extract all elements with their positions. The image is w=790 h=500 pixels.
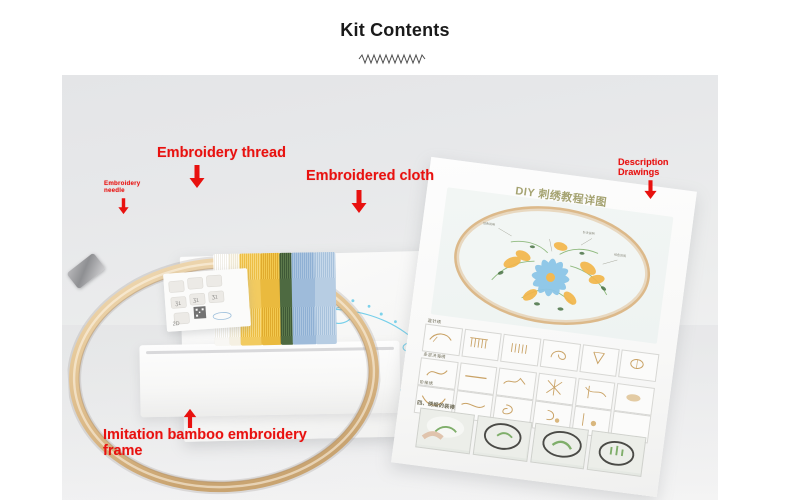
needle-packet-graphic: Ʒ1Ʒ1Ʒ1 2D [163,268,251,332]
instruction-photo [415,408,475,455]
label-embroidery-needle: Embroidery needle [104,181,140,195]
svg-text:2D: 2D [172,321,179,327]
down-arrow-icon [644,180,657,200]
stitch-diagram-cell [461,329,502,362]
svg-text:Ʒ1: Ʒ1 [212,294,218,300]
page-title: Kit Contents [0,20,790,41]
instruction-photo [472,415,532,462]
stitch-diagram-cell [618,349,659,382]
down-arrow-icon [189,165,205,189]
svg-text:Ʒ1: Ʒ1 [193,298,199,304]
description-drawings-sheet: DIY 刺绣教程详图 [391,157,697,497]
label-embroidery-thread: Embroidery thread [157,145,286,161]
instruction-photo [587,430,647,477]
thread-skein [314,252,337,344]
stitch-diagram-cell [500,334,541,367]
up-arrow-icon [183,408,197,428]
down-arrow-icon [351,190,367,214]
instruction-photo [530,423,590,470]
down-arrow-icon [118,198,129,215]
label-description-drawings: Description Drawings [618,157,669,178]
embroidery-needle-packet: Ʒ1Ʒ1Ʒ1 2D [163,268,251,332]
stitch-diagram-cell [579,344,620,377]
svg-text:Ʒ1: Ʒ1 [175,301,181,307]
thread-skein [291,252,317,344]
stitch-diagram-cell [540,339,581,372]
header: Kit Contents [0,0,790,75]
zigzag-divider-icon [355,52,435,66]
label-embroidered-cloth: Embroidered cloth [306,168,434,184]
label-imitation-bamboo-embroidery-frame: Imitation bamboo embroidery frame [103,427,333,459]
